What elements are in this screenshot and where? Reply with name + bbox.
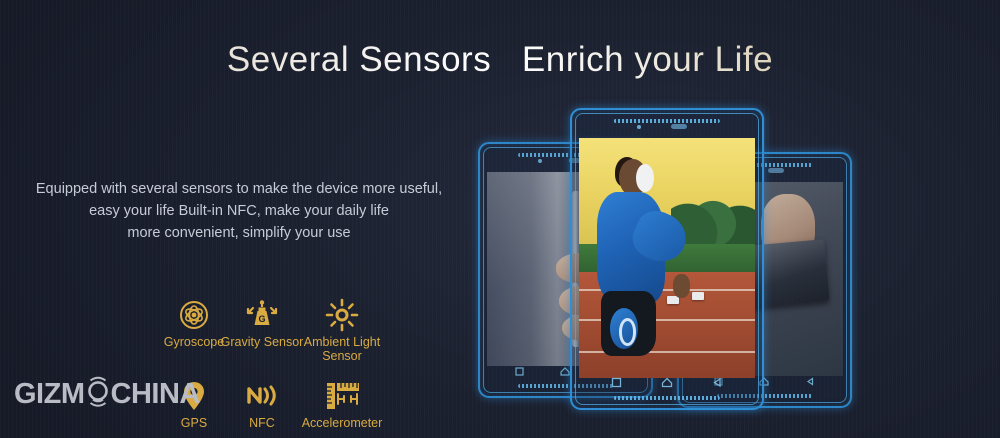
sensor-item-ambient-light-sensor[interactable]: Ambient Light Sensor bbox=[296, 296, 388, 363]
sensors-promo-banner: Several Sensors Enrich your Life Equippe… bbox=[0, 0, 1000, 438]
phone-center-runner bbox=[570, 108, 764, 410]
gyroscope-icon bbox=[178, 296, 210, 334]
sensor-label: NFC bbox=[249, 417, 275, 431]
sensor-label: Gravity Sensor bbox=[221, 336, 304, 350]
back-icon bbox=[806, 373, 815, 391]
phone-bottom-grill bbox=[614, 396, 720, 400]
sensor-row-top: Gyroscope G Gravity Sensor bbox=[160, 296, 430, 363]
sensor-label: GPS bbox=[181, 417, 207, 431]
phone-sensor-strip bbox=[768, 168, 784, 173]
phone-wireframe-group bbox=[470, 100, 870, 430]
home-icon bbox=[560, 363, 570, 381]
description-line-3: more convenient, simplify your use bbox=[24, 222, 454, 244]
description-line-1: Equipped with several sensors to make th… bbox=[24, 178, 454, 200]
runner-athlete bbox=[586, 157, 695, 373]
sensor-label: Gyroscope bbox=[164, 336, 224, 350]
logo-text-after: CHINA bbox=[111, 378, 200, 411]
phone-screen-center bbox=[579, 138, 755, 378]
nfc-icon bbox=[245, 377, 279, 415]
recents-icon bbox=[515, 363, 524, 381]
sensor-item-accelerometer[interactable]: Accelerometer bbox=[296, 377, 388, 431]
phone-sensor-strip bbox=[671, 124, 687, 129]
back-icon bbox=[712, 375, 723, 393]
sensor-feature-list: Gyroscope G Gravity Sensor bbox=[160, 296, 430, 431]
screen-image-runner-on-track bbox=[579, 138, 755, 378]
sensor-label: Accelerometer bbox=[302, 417, 383, 431]
sensor-row-bottom: GPS NFC bbox=[160, 377, 430, 431]
svg-text:G: G bbox=[258, 314, 265, 324]
phone-speaker-grill bbox=[614, 119, 720, 123]
description-text: Equipped with several sensors to make th… bbox=[24, 178, 454, 244]
gizmochina-signal-o-icon bbox=[83, 380, 113, 410]
accelerometer-ruler-icon bbox=[322, 377, 362, 415]
sensor-label: Ambient Light Sensor bbox=[296, 336, 388, 363]
logo-text-before: GIZM bbox=[14, 378, 85, 411]
ambient-light-sensor-icon bbox=[325, 296, 359, 334]
home-icon bbox=[661, 375, 673, 393]
gizmochina-logo: GIZM CHINA bbox=[14, 378, 200, 411]
gravity-sensor-icon: G bbox=[243, 296, 281, 334]
page-title: Several Sensors Enrich your Life bbox=[0, 40, 1000, 80]
description-line-2: easy your life Built-in NFC, make your d… bbox=[24, 200, 454, 222]
sensor-item-nfc[interactable]: NFC bbox=[228, 377, 296, 431]
runner-headphones bbox=[636, 164, 653, 192]
recents-icon bbox=[611, 375, 622, 393]
phone-camera-dot bbox=[637, 125, 641, 129]
sensor-item-gyroscope[interactable]: Gyroscope bbox=[160, 296, 228, 363]
phone-navigation-bar bbox=[591, 378, 743, 390]
sensor-item-gravity-sensor[interactable]: G Gravity Sensor bbox=[228, 296, 296, 363]
runner-hand bbox=[673, 274, 689, 298]
